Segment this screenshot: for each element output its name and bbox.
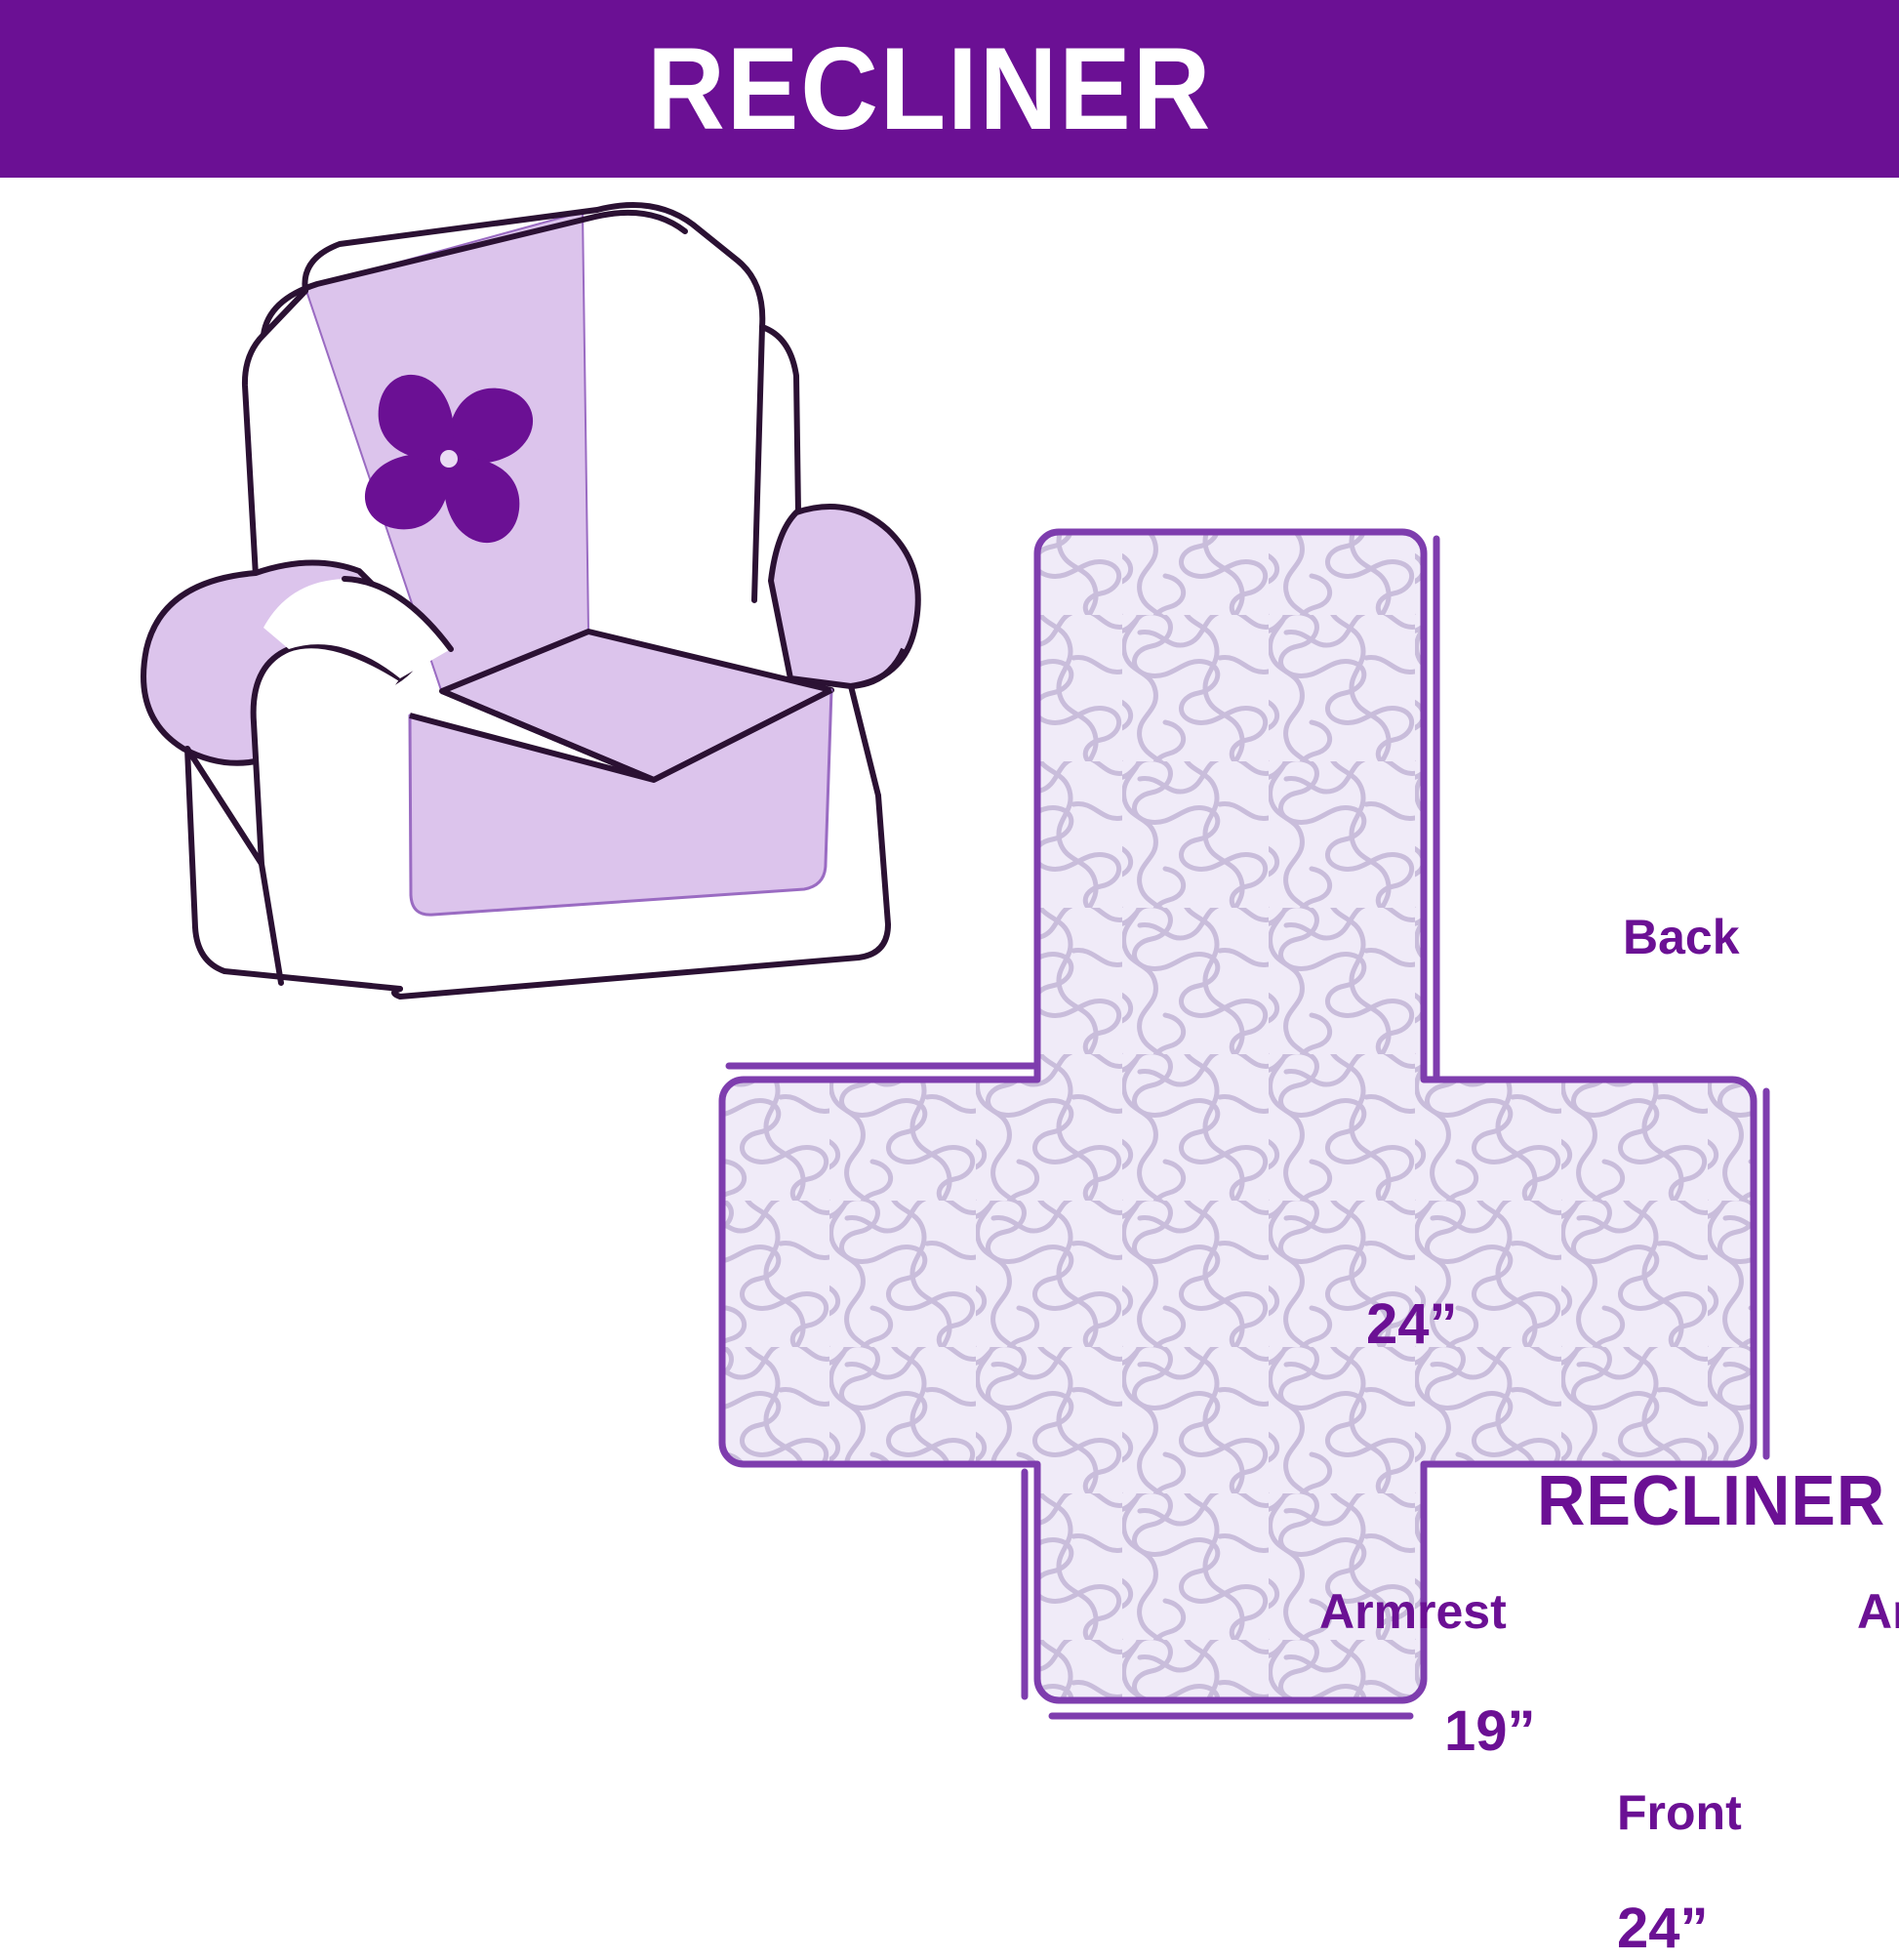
infographic-page: RECLINER bbox=[0, 0, 1899, 1899]
diagram-product-label: RECLINER bbox=[1537, 1466, 1885, 1536]
panel-label-armrest-left: Armrest bbox=[1319, 1587, 1507, 1636]
cover-dimension-diagram-svg bbox=[683, 469, 1899, 1796]
panel-label-armrest-right: Armrest bbox=[1857, 1587, 1899, 1636]
dimension-label-24-top: 24” bbox=[1366, 1296, 1458, 1353]
dimension-label-24-bottom: 24” bbox=[1617, 1900, 1709, 1957]
page-title: RECLINER bbox=[647, 30, 1212, 147]
panel-label-back: Back bbox=[1623, 913, 1740, 961]
cover-dimension-diagram: Back 40” 24” RECLINER Armrest Armrest 23… bbox=[683, 469, 1899, 1796]
header-banner: RECLINER bbox=[0, 0, 1899, 178]
panel-label-front: Front bbox=[1617, 1788, 1742, 1837]
dimension-label-19: 19” bbox=[1444, 1703, 1536, 1760]
